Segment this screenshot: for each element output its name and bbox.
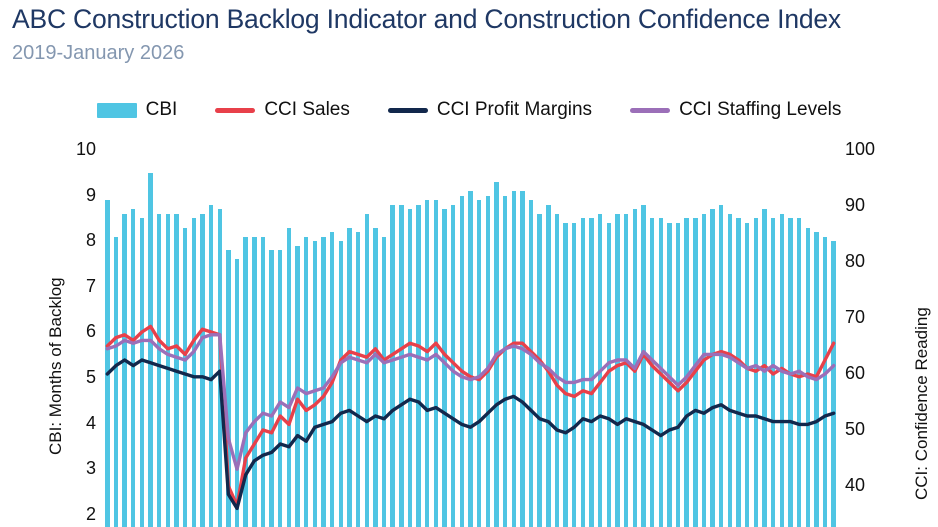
y-axis-right-tick: 60 [845,363,885,384]
legend-item-label: CCI Sales [264,99,350,121]
y-axis-right-tick: 80 [845,251,885,272]
legend-bar-swatch-icon [97,103,137,118]
y-axis-right-tick: 50 [845,419,885,440]
line-cci-sales [107,326,833,505]
y-axis-right-tick: 40 [845,475,885,496]
legend-item-label: CCI Staffing Levels [679,99,841,121]
y-axis-right-tick: 90 [845,195,885,216]
y-axis-left-tick: 10 [62,139,96,160]
legend-item-label: CBI [146,99,178,121]
y-axis-right-tick: 70 [845,307,885,328]
y-axis-left-title: CBI: Months of Backlog [46,277,66,455]
legend-item-cci-sales[interactable]: CCI Sales [215,99,350,121]
y-axis-right-tick: 100 [845,139,885,160]
y-axis-left-tick: 9 [62,185,96,206]
y-axis-right-title: CCI: Confidence Reading [912,307,932,500]
page-subtitle: 2019-January 2026 [12,42,184,65]
line-cci-staffing-levels [107,335,833,469]
page-title: ABC Construction Backlog Indicator and C… [12,4,841,35]
chart-container: ABC Construction Backlog Indicator and C… [0,0,938,527]
y-axis-left-tick: 8 [62,230,96,251]
legend-item-cci-staffing-levels[interactable]: CCI Staffing Levels [630,99,841,121]
legend-item-cci-profit-margins[interactable]: CCI Profit Margins [388,99,592,121]
y-axis-left-tick: 2 [62,504,96,525]
y-axis-left-tick: 4 [62,413,96,434]
line-cci-profit-margins [107,360,833,508]
y-axis-left-tick: 7 [62,276,96,297]
y-axis-left-tick: 5 [62,367,96,388]
line-series-layer [103,150,838,527]
legend-line-swatch-icon [215,108,255,113]
y-axis-left-tick: 6 [62,321,96,342]
y-axis-left-tick: 3 [62,458,96,479]
legend-item-label: CCI Profit Margins [437,99,592,121]
legend-line-swatch-icon [388,108,428,113]
plot-area [103,150,838,527]
legend-item-cbi[interactable]: CBI [97,99,178,121]
chart-legend: CBICCI SalesCCI Profit MarginsCCI Staffi… [0,99,938,121]
legend-line-swatch-icon [630,108,670,113]
